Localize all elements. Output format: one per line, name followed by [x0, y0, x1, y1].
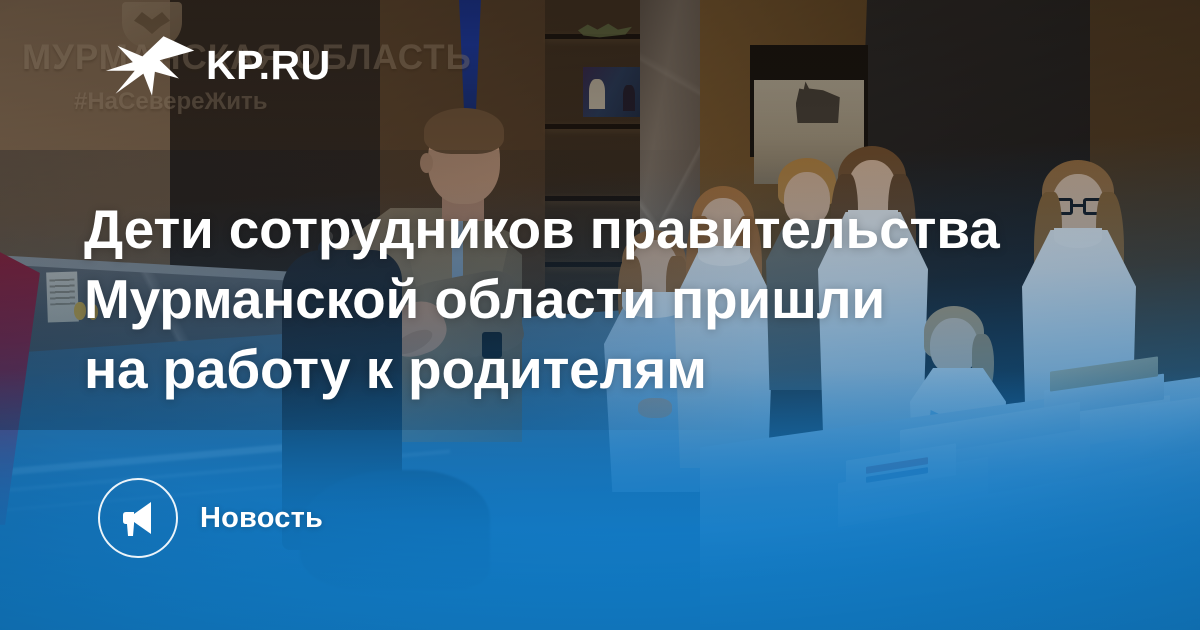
headline-line-3: на работу к родителям — [84, 334, 1084, 404]
headline-line-1: Дети сотрудников правительства — [84, 194, 1084, 264]
megaphone-icon — [118, 498, 158, 538]
megaphone-badge-circle — [98, 478, 178, 558]
news-badge-label: Новость — [200, 502, 323, 535]
kp-logo[interactable]: KP.RU — [104, 34, 331, 96]
headline-line-2: Мурманской области пришли — [84, 264, 1084, 334]
swallow-bird-icon — [104, 34, 200, 96]
headline: Дети сотрудников правительства Мурманско… — [84, 194, 1084, 404]
kp-logo-text: KP.RU — [206, 45, 331, 86]
news-share-card: МУРМАНСКАЯ ОБЛАСТЬ #НаСевереЖить — [0, 0, 1200, 630]
news-badge[interactable]: Новость — [98, 478, 323, 558]
